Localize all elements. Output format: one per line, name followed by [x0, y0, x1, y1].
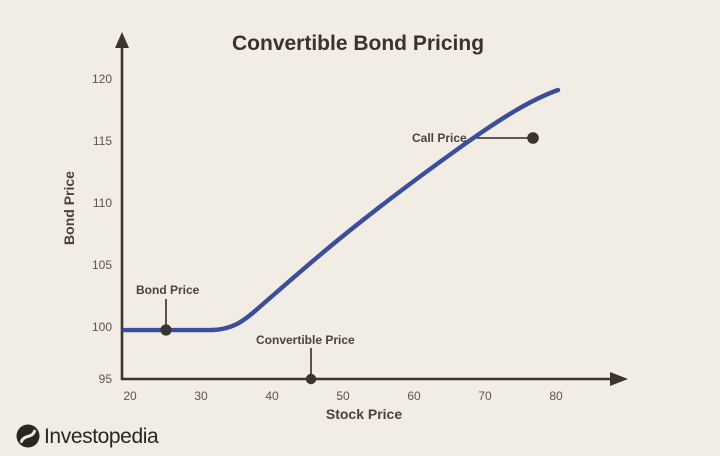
- brand-name: Investopedia: [44, 425, 159, 448]
- call-price-marker: [527, 132, 539, 144]
- y-tick-label-95: 95: [99, 372, 113, 386]
- y-tick-label-100: 100: [92, 320, 112, 334]
- convertible-bond-pricing-chart: Convertible Bond Pricing 120 115 110 105…: [0, 0, 720, 456]
- y-tick-label-110: 110: [93, 196, 112, 210]
- x-axis-label: Stock Price: [326, 406, 402, 422]
- x-tick-label-70: 70: [478, 389, 492, 403]
- x-tick-label-80: 80: [549, 389, 563, 403]
- annotation-label-call-price: Call Price: [412, 131, 467, 145]
- x-tick-label-40: 40: [265, 389, 279, 403]
- y-tick-label-120: 120: [92, 72, 112, 86]
- annotation-label-convertible-price: Convertible Price: [256, 333, 355, 347]
- x-tick-label-20: 20: [123, 389, 137, 403]
- y-tick-label-115: 115: [93, 134, 112, 148]
- y-axis-label: Bond Price: [61, 171, 77, 245]
- x-tick-label-60: 60: [407, 389, 421, 403]
- x-tick-label-30: 30: [194, 389, 208, 403]
- chart-background: [0, 0, 720, 456]
- x-tick-label-50: 50: [336, 389, 350, 403]
- investopedia-logo-icon: [17, 425, 40, 448]
- chart-title: Convertible Bond Pricing: [232, 32, 484, 55]
- bond-price-marker: [160, 324, 171, 335]
- y-tick-label-105: 105: [92, 258, 112, 272]
- convertible-price-marker: [306, 374, 316, 384]
- annotation-label-bond-price: Bond Price: [136, 283, 200, 297]
